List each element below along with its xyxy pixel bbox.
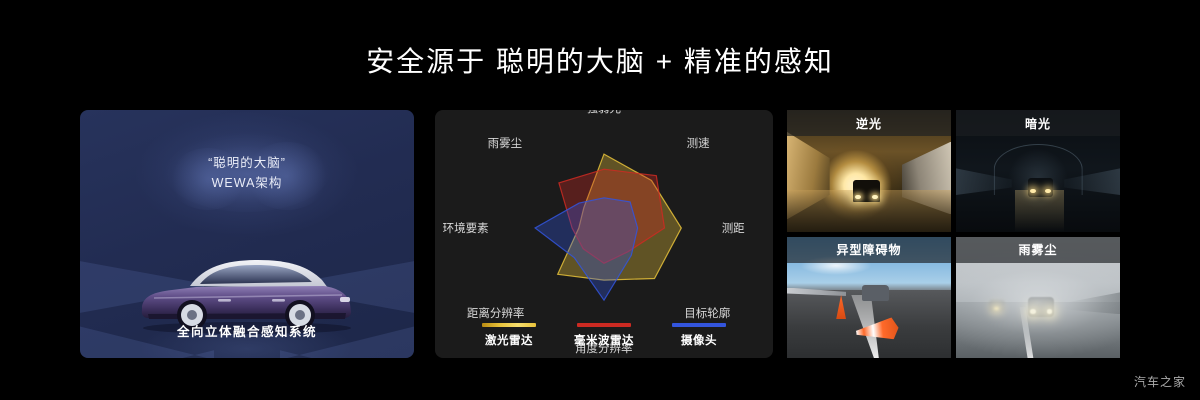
sensor-radar-panel: 强弱光测速测距目标轮廓角度分辨率距离分辨率环境要素雨雾尘 激光雷达毫米波雷达摄像…: [435, 110, 773, 358]
smart-brain-panel: “聪明的大脑” WEWA架构: [80, 110, 414, 358]
legend-swatch-icon: [577, 323, 631, 327]
legend-item-0[interactable]: 激光雷达: [482, 323, 536, 348]
radar-axis-label-1: 测速: [687, 135, 710, 151]
scenario-tile-backlight[interactable]: 逆光: [787, 110, 951, 232]
scenario-grid: 逆光 暗光 异型障碍物 雨雾尘: [787, 110, 1120, 358]
tile-caption: 异型障碍物: [787, 237, 951, 263]
watermark: 汽车之家: [1134, 373, 1186, 390]
tile-caption: 暗光: [956, 110, 1120, 136]
legend-swatch-icon: [482, 323, 536, 327]
radar-axis-label-0: 强弱光: [587, 110, 622, 116]
page-title: 安全源于 聪明的大脑 + 精准的感知: [0, 40, 1200, 80]
brain-title: “聪明的大脑”: [80, 152, 414, 171]
radar-legend: 激光雷达毫米波雷达摄像头: [435, 323, 773, 348]
scenario-tile-fog[interactable]: 雨雾尘: [956, 237, 1120, 359]
slide-canvas: 安全源于 聪明的大脑 + 精准的感知 “聪明的大脑” WEWA架构: [0, 0, 1200, 400]
radar-axis-label-7: 雨雾尘: [488, 135, 523, 151]
brain-footer-label: 全向立体融合感知系统: [80, 321, 414, 340]
legend-item-2[interactable]: 摄像头: [672, 323, 726, 348]
radar-series-摄像头: [535, 198, 638, 300]
radar-axis-label-5: 距离分辨率: [467, 305, 525, 321]
legend-label: 激光雷达: [485, 332, 533, 348]
tile-caption: 雨雾尘: [956, 237, 1120, 263]
radar-axis-label-2: 测距: [722, 220, 745, 236]
scenario-tile-lowlight[interactable]: 暗光: [956, 110, 1120, 232]
scenario-tile-obstacle[interactable]: 异型障碍物: [787, 237, 951, 359]
radar-axis-label-6: 环境要素: [443, 220, 489, 236]
radar-axis-label-3: 目标轮廓: [684, 305, 730, 321]
legend-item-1[interactable]: 毫米波雷达: [574, 323, 634, 348]
brain-subtitle: WEWA架构: [80, 172, 414, 191]
legend-swatch-icon: [672, 323, 726, 327]
legend-label: 毫米波雷达: [574, 332, 634, 348]
legend-label: 摄像头: [681, 332, 717, 348]
tile-caption: 逆光: [787, 110, 951, 136]
